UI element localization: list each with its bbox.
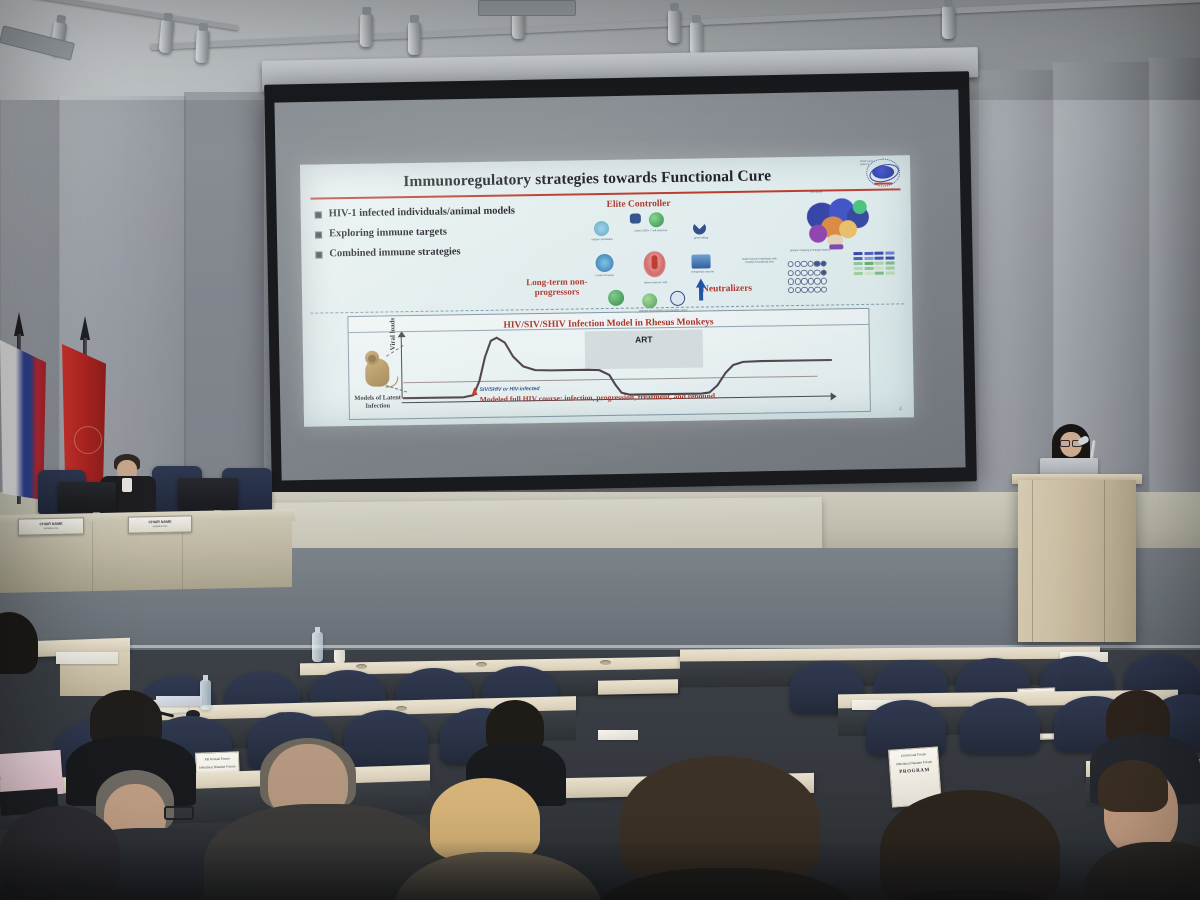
slide-title: Immunoregulatory strategies towards Func… bbox=[342, 166, 832, 192]
green-cell-icon bbox=[649, 212, 664, 227]
ceiling-vent bbox=[478, 0, 576, 16]
placard-subheading: Infectious Disease Forum bbox=[196, 764, 238, 769]
bullet-square-icon bbox=[315, 232, 322, 239]
bullet-square-icon bbox=[315, 252, 322, 259]
blue-up-arrow-icon bbox=[696, 278, 706, 287]
clock-icon bbox=[670, 291, 685, 306]
bullet-text: Exploring immune targets bbox=[329, 227, 447, 241]
nameplate-affiliation: institution line bbox=[19, 526, 83, 530]
icon-caption: gene editing bbox=[681, 236, 721, 240]
lecture-hall-photo: Immunoregulatory strategies towards Func… bbox=[0, 0, 1200, 900]
wall-panel bbox=[1148, 58, 1200, 513]
infection-marker-label: SIV/SHIV or HIV-infected bbox=[479, 386, 539, 393]
podium-seam bbox=[1104, 480, 1105, 642]
table-seam bbox=[92, 521, 93, 591]
label-long-term-non-progressors: Long-term non-progressors bbox=[514, 277, 600, 298]
green-marker-icon bbox=[642, 293, 657, 308]
slide-number: 4 bbox=[899, 406, 902, 412]
list-item: Exploring immune targets bbox=[315, 224, 580, 240]
projected-slide: Immunoregulatory strategies towards Func… bbox=[300, 155, 914, 427]
bullet-square-icon bbox=[315, 211, 322, 218]
wall-panel-shadow bbox=[184, 92, 264, 522]
ceiling-spotlight bbox=[690, 22, 703, 55]
monitor-icon bbox=[691, 254, 710, 268]
document-sheet bbox=[598, 730, 638, 740]
antibody-screening-dot-array bbox=[788, 261, 826, 294]
chairman-nameplate[interactable]: CHAIR NAME institution line bbox=[18, 517, 84, 535]
label-elite-controller: Elite Controller bbox=[607, 199, 671, 210]
foreground-shadow bbox=[0, 840, 1200, 900]
desk-surface bbox=[598, 679, 678, 694]
audience-chair bbox=[960, 698, 1040, 754]
icon-caption: potent CD8+ T cell response bbox=[627, 229, 675, 233]
audience-chair bbox=[344, 710, 428, 768]
paper-cup bbox=[334, 650, 345, 663]
podium bbox=[1018, 480, 1136, 642]
icon-caption: antigen stimulation bbox=[582, 238, 622, 242]
podium-seam bbox=[1032, 480, 1033, 642]
snowflake-cell-icon bbox=[595, 254, 613, 272]
cable-grommet bbox=[356, 664, 367, 669]
antibody-protein-structure-icon bbox=[801, 198, 876, 255]
blue-up-arrow-stem bbox=[699, 286, 703, 300]
monkey-caption: Models of Latent Infection bbox=[352, 394, 404, 410]
ceiling-spotlight bbox=[360, 14, 374, 47]
list-item: HIV-1 infected individuals/animal models bbox=[315, 204, 580, 220]
bullet-text: Combined immune strategies bbox=[329, 246, 460, 260]
flagpole-tip bbox=[80, 316, 90, 340]
cable-grommet bbox=[476, 662, 487, 667]
document-sheet bbox=[156, 696, 202, 706]
infection-model-chart-panel: HIV/SIV/SHIV Infection Model in Rhesus M… bbox=[347, 308, 871, 420]
red-virion-icon bbox=[651, 255, 657, 269]
virus-icon bbox=[594, 221, 609, 236]
chart-title: HIV/SIV/SHIV Infection Model in Rhesus M… bbox=[503, 317, 713, 330]
scissors-icon bbox=[693, 221, 706, 234]
icon-caption: innate immunity bbox=[585, 274, 625, 278]
water-bottle bbox=[312, 632, 323, 662]
chairman-nameplate[interactable]: CHAIR NAME institution line bbox=[128, 515, 192, 533]
placard-heading: XIII Annual Forum bbox=[196, 756, 238, 761]
ceiling-spotlight bbox=[195, 30, 210, 64]
cell-cluster-icon bbox=[630, 213, 641, 223]
icon-caption: Env trimer bbox=[794, 190, 838, 194]
bullet-text: HIV-1 infected individuals/animal models bbox=[329, 205, 515, 220]
chart-y-axis-label: Viral loads bbox=[388, 318, 397, 351]
ceiling-spotlight bbox=[942, 6, 955, 39]
document-sheet bbox=[56, 652, 118, 664]
icon-caption: bNAb-induced individuals with broadly ne… bbox=[738, 257, 780, 264]
heatmap-strip bbox=[853, 251, 894, 275]
placard-heading: XIII Annual Forum bbox=[889, 751, 937, 758]
ceiling-spotlight bbox=[408, 22, 421, 55]
nameplate-affiliation: institution line bbox=[129, 524, 191, 528]
cable-grommet bbox=[600, 660, 611, 665]
flag-emblem bbox=[74, 426, 102, 454]
infection-marker-arrow-icon bbox=[471, 387, 477, 395]
green-node-icon bbox=[608, 290, 624, 306]
icon-caption: therapeutic vaccine bbox=[683, 270, 723, 274]
placard-subheading: Infectious Disease Forum bbox=[890, 759, 938, 766]
icon-caption: bNAb panelpotency bbox=[860, 159, 900, 166]
chairman-monitor bbox=[178, 478, 238, 510]
slide-bullet-list: HIV-1 infected individuals/animal models… bbox=[315, 204, 581, 268]
patient-figure-icon bbox=[749, 209, 769, 255]
list-item: Combined immune strategies bbox=[315, 245, 580, 261]
icon-caption: latent reservoir cells bbox=[636, 281, 676, 285]
flagpole-tip bbox=[14, 312, 24, 336]
ceiling-spotlight bbox=[668, 10, 681, 43]
chairman-monitor bbox=[58, 482, 116, 512]
glasses-icon bbox=[164, 806, 194, 820]
placard-program-label: PROGRAM bbox=[891, 767, 939, 775]
